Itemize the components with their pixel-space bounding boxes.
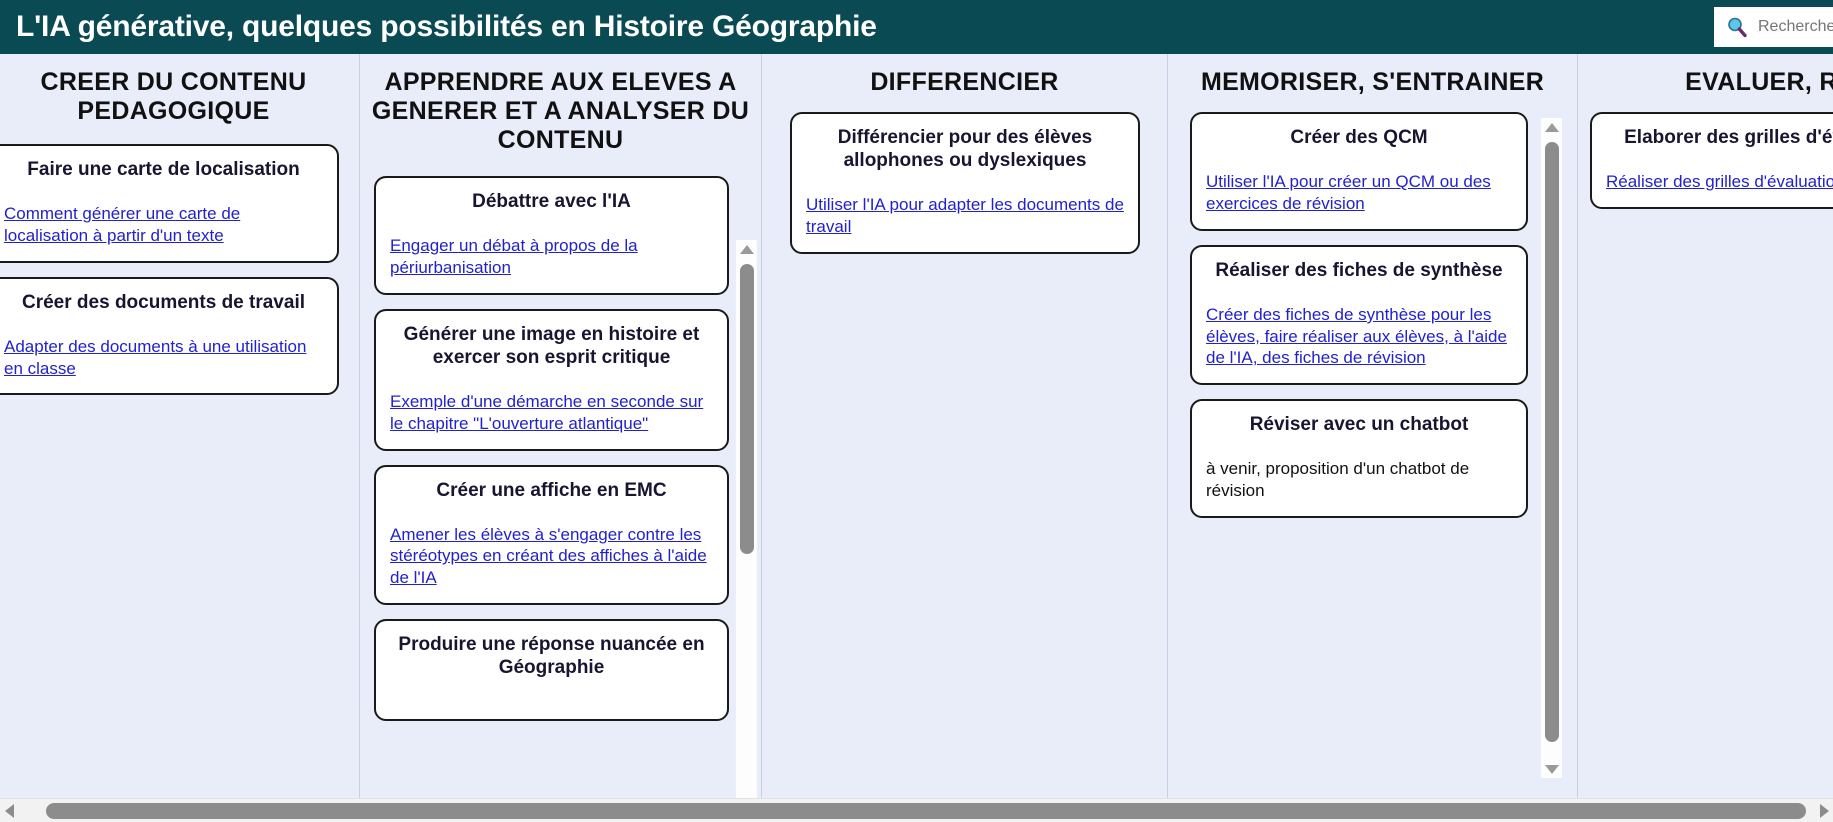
card[interactable]: Réaliser des fiches de synthèse Créer de… xyxy=(1190,245,1528,385)
card[interactable]: Créer des QCM Utiliser l'IA pour créer u… xyxy=(1190,112,1528,231)
column-title: APPRENDRE AUX ELEVES A GENERER ET A ANAL… xyxy=(360,54,761,155)
scroll-down-arrow[interactable] xyxy=(1541,760,1563,778)
app-root: L'IA générative, quelques possibilités e… xyxy=(0,0,1833,822)
scrollbar-thumb[interactable] xyxy=(46,803,1806,819)
triangle-up-icon xyxy=(1545,123,1559,132)
column-cards: Créer des QCM Utiliser l'IA pour créer u… xyxy=(1190,112,1528,798)
card-link[interactable]: Réaliser des grilles d'évaluation avec l… xyxy=(1606,171,1833,193)
card-title: Générer une image en histoire et exercer… xyxy=(390,323,713,369)
card[interactable]: Créer des documents de travail Adapter d… xyxy=(0,277,339,396)
card-link[interactable]: Créer des fiches de synthèse pour les él… xyxy=(1206,304,1512,369)
card[interactable]: Produire une réponse nuancée en Géograph… xyxy=(374,619,729,721)
scrollbar-thumb[interactable] xyxy=(1545,142,1559,742)
column-evaluer-remedier: EVALUER, REM Elaborer des grilles d'éval… xyxy=(1578,54,1833,798)
scroll-right-arrow[interactable] xyxy=(1815,799,1833,822)
horizontal-scrollbar[interactable] xyxy=(0,798,1833,822)
card-title: Faire une carte de localisation xyxy=(4,158,323,181)
vertical-scrollbar[interactable] xyxy=(735,240,757,798)
search-icon xyxy=(1726,16,1748,38)
column-cards: Elaborer des grilles d'évaluation Réalis… xyxy=(1590,112,1833,798)
column-title: DIFFERENCIER xyxy=(762,54,1167,97)
search-box[interactable]: Recherche xyxy=(1714,7,1833,47)
card-title: Créer des documents de travail xyxy=(4,291,323,314)
column-title: MEMORISER, S'ENTRAINER xyxy=(1168,54,1577,97)
card-link[interactable]: Utiliser l'IA pour créer un QCM ou des e… xyxy=(1206,171,1512,215)
card-title: Produire une réponse nuancée en Géograph… xyxy=(390,633,713,679)
column-apprendre-aux-eleves: APPRENDRE AUX ELEVES A GENERER ET A ANAL… xyxy=(360,54,761,798)
card-link[interactable]: Comment générer une carte de localisatio… xyxy=(4,203,323,247)
card-title: Elaborer des grilles d'évaluation xyxy=(1606,126,1833,149)
card-title: Créer une affiche en EMC xyxy=(390,479,713,502)
column-creer-du-contenu-pedagogique: CREER DU CONTENU PEDAGOGIQUE Faire une c… xyxy=(0,54,359,798)
triangle-left-icon xyxy=(5,804,14,818)
triangle-down-icon xyxy=(1545,765,1559,774)
scroll-up-arrow[interactable] xyxy=(1541,118,1563,136)
card-title: Débattre avec l'IA xyxy=(390,190,713,213)
scroll-left-arrow[interactable] xyxy=(0,799,18,822)
vertical-scrollbar[interactable] xyxy=(1540,118,1562,778)
column-cards: Différencier pour des élèves allophones … xyxy=(790,112,1140,798)
card-link[interactable]: Amener les élèves à s'engager contre les… xyxy=(390,524,713,589)
card-link[interactable]: Adapter des documents à une utilisation … xyxy=(4,336,323,380)
column-memoriser-sentrainer: MEMORISER, S'ENTRAINER Créer des QCM Uti… xyxy=(1168,54,1577,798)
search-input[interactable]: Recherche xyxy=(1758,18,1833,36)
column-cards: Faire une carte de localisation Comment … xyxy=(0,144,351,798)
card[interactable]: Réviser avec un chatbot à venir, proposi… xyxy=(1190,399,1528,518)
card-title: Créer des QCM xyxy=(1206,126,1512,149)
card-title: Réviser avec un chatbot xyxy=(1206,413,1512,436)
card[interactable]: Faire une carte de localisation Comment … xyxy=(0,144,339,263)
scrollbar-thumb[interactable] xyxy=(740,264,754,554)
columns-board: CREER DU CONTENU PEDAGOGIQUE Faire une c… xyxy=(0,54,1833,798)
card[interactable]: Créer une affiche en EMC Amener les élèv… xyxy=(374,465,729,605)
card[interactable]: Générer une image en histoire et exercer… xyxy=(374,309,729,451)
page-title: L'IA générative, quelques possibilités e… xyxy=(0,0,877,54)
card-title: Différencier pour des élèves allophones … xyxy=(806,126,1124,172)
card-title: Réaliser des fiches de synthèse xyxy=(1206,259,1512,282)
card-link[interactable]: Exemple d'une démarche en seconde sur le… xyxy=(390,391,713,435)
column-differencier: DIFFERENCIER Différencier pour des élève… xyxy=(762,54,1167,798)
column-cards: Débattre avec l'IA Engager un débat à pr… xyxy=(374,176,729,798)
column-title: CREER DU CONTENU PEDAGOGIQUE xyxy=(0,54,359,126)
app-header: L'IA générative, quelques possibilités e… xyxy=(0,0,1833,54)
column-title: EVALUER, REM xyxy=(1578,54,1833,97)
triangle-right-icon xyxy=(1820,804,1829,818)
card[interactable]: Différencier pour des élèves allophones … xyxy=(790,112,1140,254)
card-text: à venir, proposition d'un chatbot de rév… xyxy=(1206,458,1512,502)
scroll-up-arrow[interactable] xyxy=(736,240,758,258)
card-link[interactable]: Utiliser l'IA pour adapter les documents… xyxy=(806,194,1124,238)
card[interactable]: Elaborer des grilles d'évaluation Réalis… xyxy=(1590,112,1833,209)
triangle-up-icon xyxy=(740,245,754,254)
card-link[interactable]: Engager un débat à propos de la périurba… xyxy=(390,235,713,279)
card[interactable]: Débattre avec l'IA Engager un débat à pr… xyxy=(374,176,729,295)
